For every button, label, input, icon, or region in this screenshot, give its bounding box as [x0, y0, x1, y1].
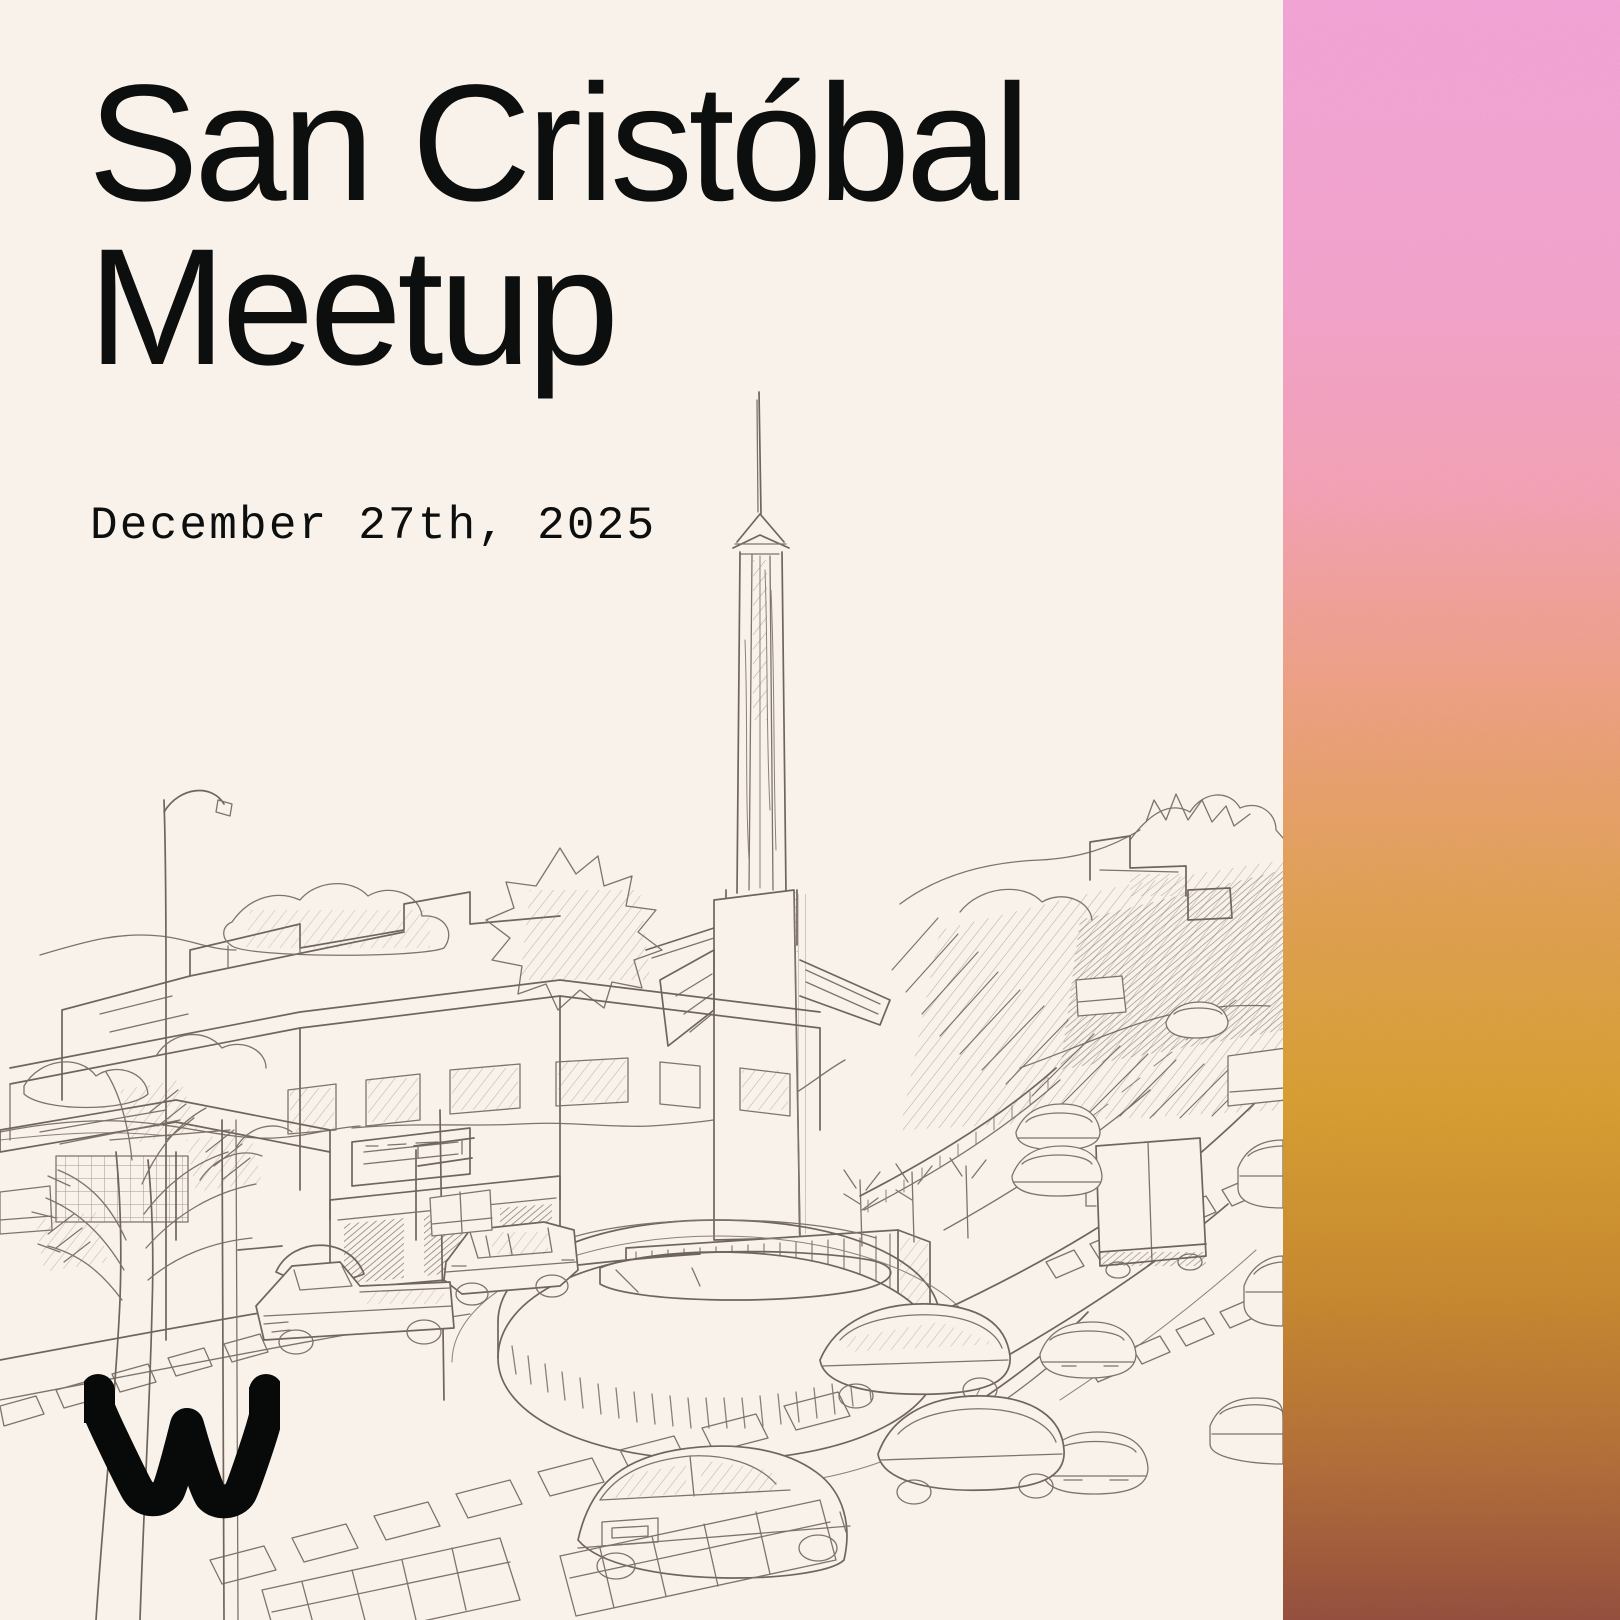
- vehicle-box-truck: [1086, 1138, 1206, 1278]
- event-date: December 27th, 2025: [90, 500, 656, 552]
- vehicle-sedan-bottom: [578, 1446, 850, 1579]
- vehicle-small-far: [1076, 976, 1126, 1016]
- grain-texture: [1283, 0, 1620, 1620]
- gradient-bar: [1283, 0, 1620, 1620]
- poster-canvas: .ln { fill:none; stroke:#6f655c; stroke-…: [0, 0, 1620, 1620]
- vehicle-car-h4: [1244, 1256, 1283, 1326]
- vehicle-truck-left2: [430, 1190, 492, 1236]
- vehicle-car-h3: [1238, 1140, 1283, 1208]
- vehicle-car-h7: [1210, 1398, 1283, 1464]
- vehicle-truck-upper: [1228, 1048, 1283, 1106]
- page-title: San Cristóbal Meetup: [88, 62, 1208, 391]
- vehicle-car-h5: [1040, 1322, 1136, 1378]
- cream-panel: .ln { fill:none; stroke:#6f655c; stroke-…: [0, 0, 1283, 1620]
- sign-pole: [222, 1120, 282, 1620]
- wavy-w-logo[interactable]: [84, 1373, 280, 1523]
- vehicle-car-h2: [1012, 1146, 1102, 1196]
